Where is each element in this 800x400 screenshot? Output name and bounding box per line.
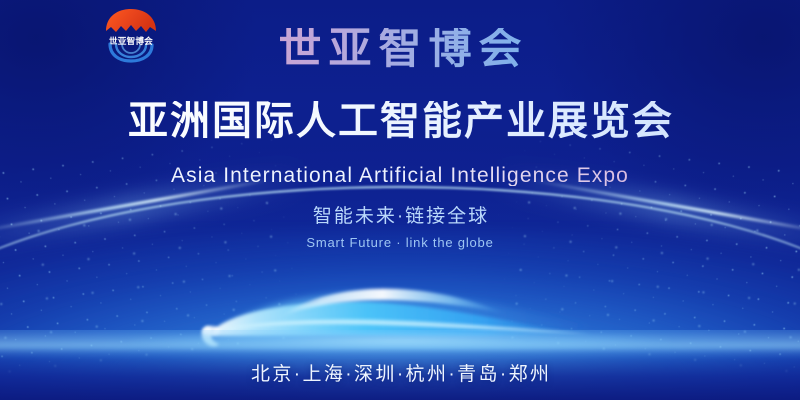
expo-poster: 世亚智博会 世亚智博会 亚洲国际人工智能产业展览会 Asia Internati… (0, 0, 800, 400)
slogan-en: Smart Future · link the globe (0, 236, 800, 249)
slogan-cn: 智能未来·链接全球 (0, 207, 800, 226)
event-title-en: Asia International Artificial Intelligen… (0, 165, 800, 186)
city-list: 北京·上海·深圳·杭州·青岛·郑州 (0, 365, 800, 384)
event-title-cn: 亚洲国际人工智能产业展览会 (0, 101, 800, 141)
page-title: 世亚智博会 (0, 28, 800, 71)
